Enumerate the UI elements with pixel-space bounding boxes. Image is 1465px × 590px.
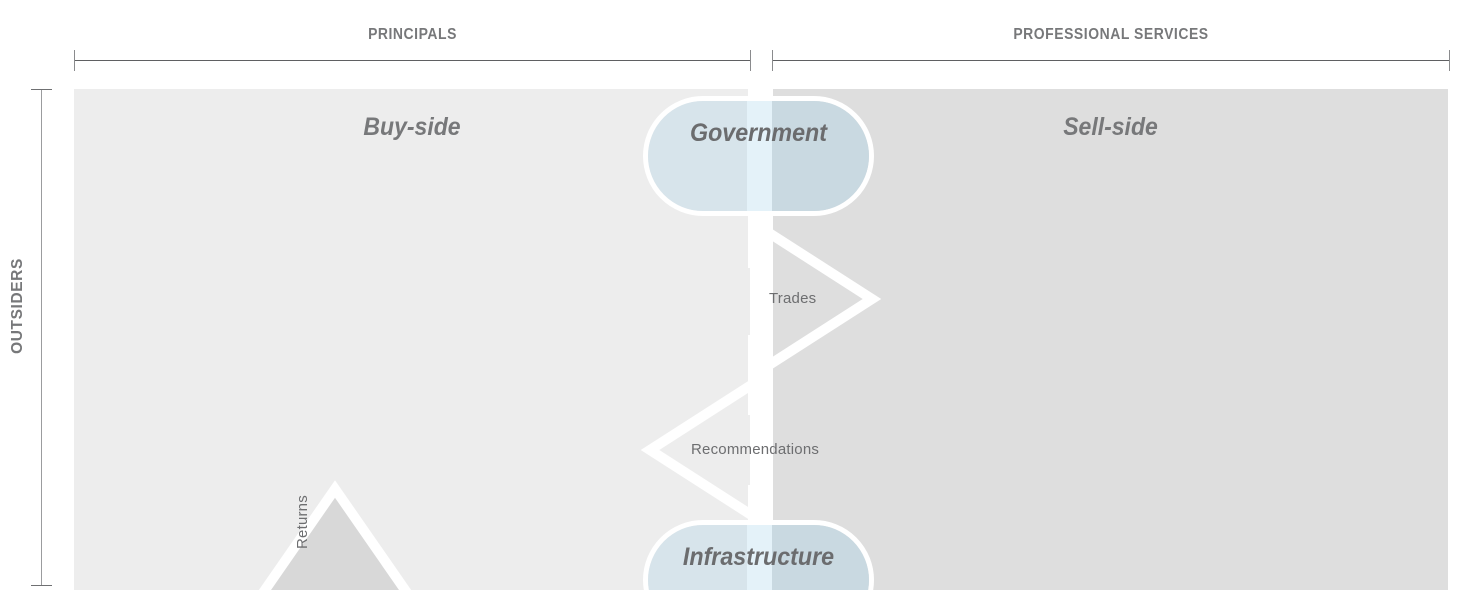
- group-title-professional-services: PROFESSIONAL SERVICES: [806, 26, 1416, 44]
- node-government[interactable]: Government: [643, 96, 874, 216]
- panel-title-buy-side: Buy-side: [101, 113, 723, 142]
- diagram-canvas: PRINCIPALS PROFESSIONAL SERVICES OUTSIDE…: [0, 0, 1465, 590]
- node-government-fill-left: [648, 101, 759, 211]
- flow-label-trades: Trades: [769, 290, 816, 307]
- axis-bracket-outsiders: [41, 89, 42, 586]
- bracket-tick-services-left: [772, 50, 773, 71]
- axis-tick-bottom: [31, 585, 52, 586]
- bracket-principals: [74, 60, 751, 61]
- group-title-principals: PRINCIPALS: [108, 26, 717, 44]
- node-government-fill-right: [759, 101, 870, 211]
- node-label-infrastructure: Infrastructure: [656, 543, 862, 572]
- spine-segment-government-to-trades: [748, 210, 773, 268]
- node-government-fill-center: [747, 101, 772, 211]
- bracket-tick-services-right: [1449, 50, 1450, 71]
- bracket-tick-principals-right: [750, 50, 751, 71]
- node-label-government: Government: [656, 119, 862, 148]
- panel-title-sell-side: Sell-side: [800, 113, 1421, 142]
- panel-sell-side: Sell-side: [773, 89, 1448, 590]
- axis-tick-top: [31, 89, 52, 90]
- flow-label-returns: Returns: [294, 495, 311, 549]
- node-infrastructure[interactable]: Infrastructure: [643, 520, 874, 590]
- axis-label-outsiders: OUTSIDERS: [9, 226, 27, 386]
- bracket-professional-services: [772, 60, 1450, 61]
- flow-label-recommendations: Recommendations: [691, 441, 819, 458]
- bracket-tick-principals-left: [74, 50, 75, 71]
- spine-segment-trades-to-recommendations: [748, 335, 773, 415]
